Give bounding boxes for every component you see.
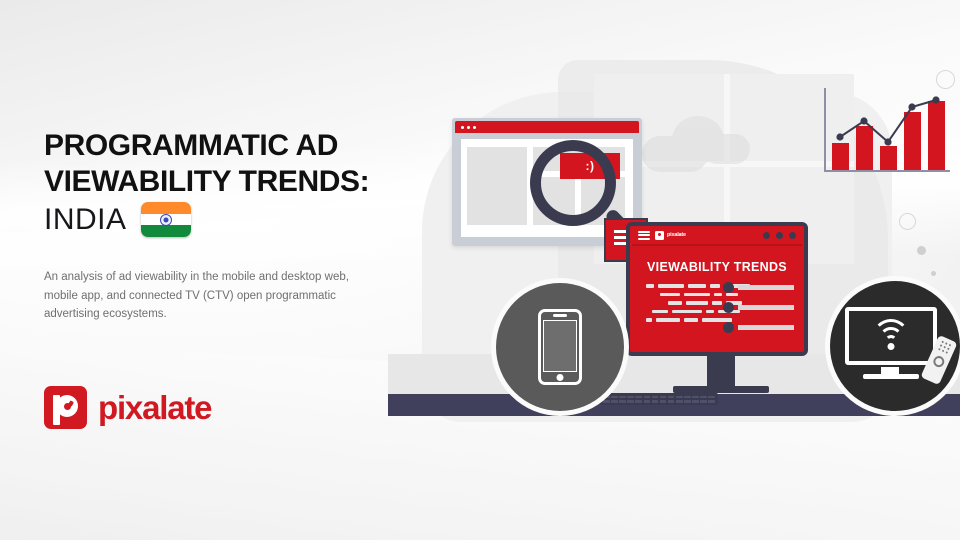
- country-row: INDIA: [44, 202, 464, 237]
- phone-home-button: [557, 374, 564, 381]
- monitor-stand-neck: [707, 356, 735, 390]
- ashoka-chakra-icon: [160, 214, 172, 226]
- monitor-screen-title: VIEWABILITY TRENDS: [630, 260, 804, 274]
- ctv-badge: [830, 281, 960, 411]
- tv-base: [863, 374, 919, 379]
- page-title-line-1: PROGRAMMATIC AD: [44, 128, 464, 164]
- subtitle-text: An analysis of ad viewability in the mob…: [44, 268, 374, 324]
- monitor-stand-base: [673, 386, 769, 393]
- flag-band-saffron: [141, 202, 191, 214]
- chart-trend-line: [810, 88, 954, 180]
- desktop-monitor: pixalate VIEWABILITY TRENDS: [626, 222, 816, 397]
- monitor-dot-2: [776, 232, 783, 239]
- browser-title-bar: [455, 121, 639, 133]
- mobile-badge: [496, 283, 624, 411]
- logo-dot: [64, 403, 71, 410]
- bullet-item: [723, 322, 794, 333]
- india-flag-icon: [141, 202, 191, 237]
- wifi-icon: [871, 319, 911, 353]
- remote-keypad: [938, 341, 951, 354]
- page-title-line-2: VIEWABILITY TRENDS:: [44, 164, 464, 200]
- content-block-3: [533, 177, 575, 225]
- keyboard: [600, 393, 718, 405]
- ad-badge: :): [560, 153, 620, 179]
- bullet-item: [723, 302, 794, 313]
- hamburger-menu-icon[interactable]: [638, 231, 650, 240]
- headline-block: PROGRAMMATIC AD VIEWABILITY TRENDS: INDI…: [44, 128, 464, 324]
- browser-dot-2: [467, 126, 470, 129]
- pixalate-logo: pixalate: [44, 386, 211, 429]
- pixalate-logo-mark-icon: [44, 386, 87, 429]
- flag-band-green: [141, 225, 191, 237]
- monitor-brand: pixalate: [655, 231, 686, 240]
- content-block-1: [467, 147, 527, 225]
- monitor-header-rule: [632, 244, 802, 246]
- monitor-window-dots: [763, 232, 796, 239]
- pixalate-wordmark: pixalate: [98, 389, 211, 427]
- monitor-brand-label: pixalate: [667, 232, 686, 238]
- browser-dot-3: [473, 126, 476, 129]
- country-label: INDIA: [44, 203, 127, 237]
- monitor-dot-3: [789, 232, 796, 239]
- bar-chart: [810, 88, 954, 180]
- burger-line-2: [638, 234, 650, 236]
- burger-line-3: [638, 238, 650, 240]
- burger-line-1: [638, 231, 650, 233]
- phone-screen: [543, 320, 577, 372]
- monitor-dot-1: [763, 232, 770, 239]
- phone-speaker: [553, 314, 567, 317]
- hero-illustration: :): [408, 0, 960, 540]
- monitor-app-header: pixalate: [630, 226, 804, 244]
- tv-wifi-icon: [845, 307, 945, 385]
- bullet-item: [723, 282, 794, 293]
- cloud-shape: [638, 112, 758, 176]
- monitor-screen: pixalate VIEWABILITY TRENDS: [626, 222, 808, 356]
- monitor-logo-mark-icon: [655, 231, 664, 240]
- smartphone-icon: [538, 309, 582, 385]
- logo-stem: [53, 395, 60, 425]
- monitor-bullet-list: [723, 282, 794, 342]
- wifi-dot: [888, 343, 895, 350]
- cloud-part-3: [702, 134, 750, 164]
- remote-dial: [931, 354, 946, 369]
